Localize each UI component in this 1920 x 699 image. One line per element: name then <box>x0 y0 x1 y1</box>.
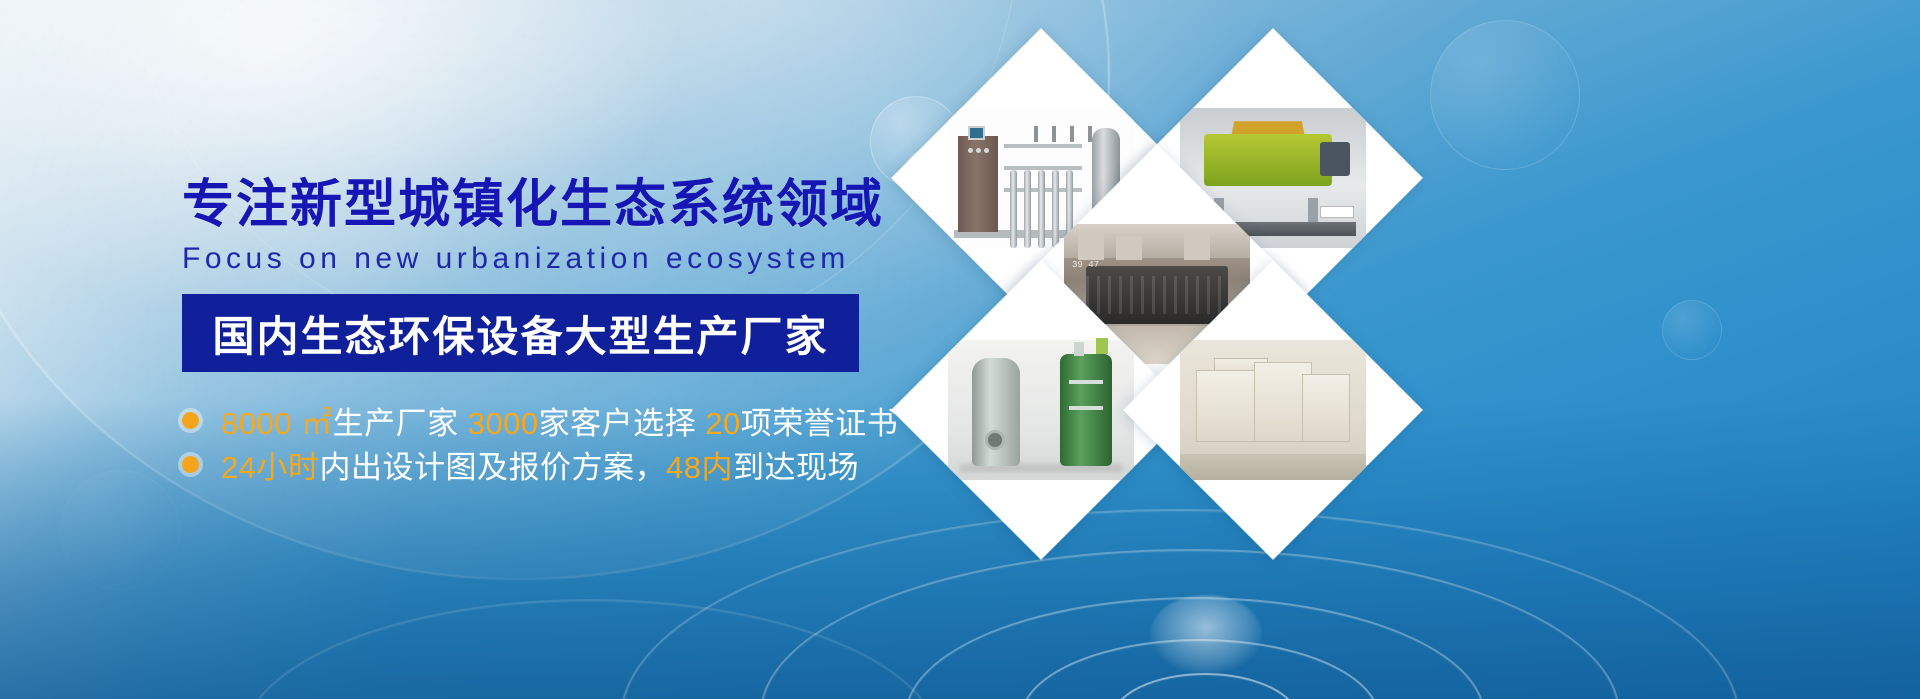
plain-text: 项荣誉证书 <box>741 406 899 441</box>
product-diamond-gallery: 39 47 <box>905 50 1915 540</box>
ripple-ring <box>1110 673 1300 699</box>
ripple-ring <box>905 597 1485 699</box>
list-item: 8000 ㎡生产厂家 3000家客户选择 20项荣誉证书 <box>182 398 922 442</box>
plain-text: 内出设计图及报价方案， <box>319 450 666 485</box>
plain-text: 生产厂家 <box>333 406 468 441</box>
diamond-photo-5 <box>1180 340 1366 480</box>
vertical-tanks-photo <box>948 340 1134 480</box>
page-title: 专注新型城镇化生态系统领域 <box>182 176 922 234</box>
ripple-ring <box>1020 639 1380 699</box>
diamond-photo-4 <box>948 340 1134 480</box>
bullet-dot-icon <box>182 456 199 473</box>
highlight-number: 3000 <box>468 406 539 441</box>
page-subtitle: Focus on new urbanization ecosystem <box>182 242 922 276</box>
selling-points-list: 8000 ㎡生产厂家 3000家客户选择 20项荣誉证书 24小时内出设计图及报… <box>182 398 922 486</box>
selling-point-text-1: 8000 ㎡生产厂家 3000家客户选择 20项荣誉证书 <box>221 398 898 443</box>
list-item: 24小时内出设计图及报价方案，48内到达现场 <box>182 442 922 486</box>
water-splash <box>1150 595 1262 673</box>
ribbon-label: 国内生态环保设备大型生产厂家 <box>212 303 828 364</box>
highlight-number: 48内 <box>666 450 733 485</box>
hero-banner: 专注新型城镇化生态系统领域 Focus on new urbanization … <box>0 0 1920 699</box>
bullet-dot-icon <box>182 412 199 429</box>
bubble-icon <box>60 470 180 590</box>
selling-point-text-2: 24小时内出设计图及报价方案，48内到达现场 <box>221 442 859 487</box>
plain-text: 家客户选择 <box>539 406 706 441</box>
highlight-number: 20 <box>705 406 740 441</box>
highlight-number: 8000 ㎡ <box>221 406 333 441</box>
stacked-blocks-photo <box>1180 340 1366 480</box>
highlight-ribbon: 国内生态环保设备大型生产厂家 <box>182 294 859 372</box>
banner-copy: 专注新型城镇化生态系统领域 Focus on new urbanization … <box>182 176 922 486</box>
highlight-number: 24小时 <box>221 450 319 485</box>
plain-text: 到达现场 <box>733 450 859 485</box>
ripple-ring <box>760 549 1620 699</box>
ripple-ring <box>240 599 940 699</box>
